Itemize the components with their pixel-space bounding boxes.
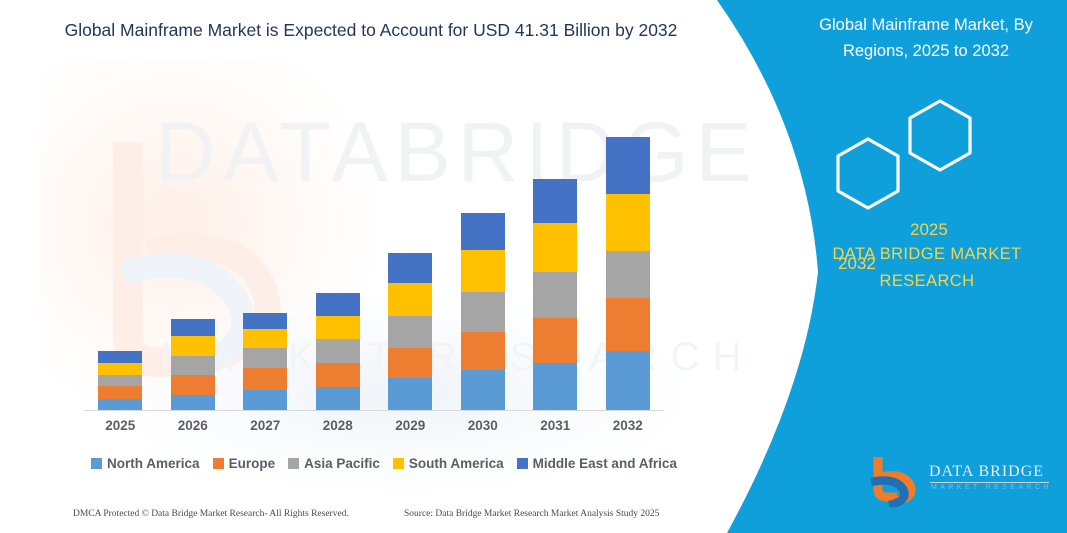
x-axis-label: 2029 <box>379 418 441 433</box>
bar-segment <box>98 386 142 399</box>
bar-segment <box>388 283 432 316</box>
logo-divider <box>930 482 1049 483</box>
logo-subtitle: MARKET RESEARCH <box>931 484 1052 491</box>
x-axis-label: 2030 <box>452 418 514 433</box>
x-axis-label: 2031 <box>524 418 586 433</box>
bar-segment <box>606 137 650 194</box>
bar-segment <box>171 319 215 336</box>
hexagon-2025-shape <box>910 101 970 170</box>
bar-segment <box>533 179 577 223</box>
legend-swatch-icon <box>393 458 404 469</box>
bar-segment <box>98 375 142 386</box>
legend-item-middle-east-and-africa[interactable]: Middle East and Africa <box>517 456 677 471</box>
legend-swatch-icon <box>517 458 528 469</box>
legend-item-north-america[interactable]: North America <box>91 456 200 471</box>
legend-label: Middle East and Africa <box>533 456 677 471</box>
bar-segment <box>533 223 577 272</box>
bar-segment <box>606 351 650 411</box>
x-axis-label: 2025 <box>89 418 151 433</box>
bar-segment <box>388 316 432 348</box>
legend-swatch-icon <box>91 458 102 469</box>
bar-segment <box>243 348 287 368</box>
legend-label: Europe <box>229 456 276 471</box>
right-panel-content: Global Mainframe Market, By Regions, 202… <box>687 0 1067 533</box>
bar-segment <box>243 329 287 348</box>
bar-segment <box>461 213 505 250</box>
x-axis-label: 2032 <box>597 418 659 433</box>
bar-segment <box>606 298 650 351</box>
data-bridge-logo-icon <box>867 455 927 507</box>
hexagon-outlines-icon <box>812 92 1052 210</box>
bar-segment <box>461 250 505 292</box>
hexagon-2032-shape <box>838 139 898 208</box>
bar-segment <box>533 363 577 411</box>
bar-segment <box>388 348 432 378</box>
bar-segment <box>461 292 505 332</box>
bar-segment <box>171 395 215 411</box>
bar-stack <box>243 313 287 411</box>
bar-stack <box>533 179 577 411</box>
footer-source: Source: Data Bridge Market Research Mark… <box>404 509 659 519</box>
bar-segment <box>243 313 287 329</box>
bar-segment <box>98 363 142 375</box>
legend-swatch-icon <box>288 458 299 469</box>
footer-copyright: DMCA Protected © Data Bridge Market Rese… <box>73 509 349 519</box>
bar-stack <box>388 253 432 411</box>
bar-segment <box>171 356 215 375</box>
bar-segment <box>388 378 432 411</box>
bar-segment <box>243 390 287 411</box>
chart-x-axis-line <box>84 410 664 411</box>
bar-segment <box>461 332 505 370</box>
x-axis-label: 2027 <box>234 418 296 433</box>
bar-segment <box>388 253 432 283</box>
bar-segment <box>98 351 142 363</box>
logo-title: DATA BRIDGE <box>929 463 1044 481</box>
legend-label: South America <box>409 456 504 471</box>
bar-segment <box>171 336 215 356</box>
bar-segment <box>316 387 360 411</box>
legend-label: North America <box>107 456 200 471</box>
bar-segment <box>243 368 287 390</box>
bar-stack <box>461 213 505 411</box>
infographic-canvas: DATABRIDGE MARKET RESEARCH Global Mainfr… <box>0 0 1067 533</box>
bar-stack <box>171 319 215 411</box>
bar-segment <box>316 339 360 363</box>
hexagon-badges: 2032 2025 <box>812 92 1052 210</box>
x-axis-label: 2026 <box>162 418 224 433</box>
chart-title: Global Mainframe Market is Expected to A… <box>56 16 686 45</box>
chart-x-axis-labels: 20252026202720282029203020312032 <box>84 418 664 440</box>
legend-item-asia-pacific[interactable]: Asia Pacific <box>288 456 380 471</box>
bar-segment <box>316 293 360 316</box>
hexagon-2025-label: 2025 <box>910 220 948 240</box>
bar-segment <box>171 375 215 395</box>
panel-title: Global Mainframe Market, By Regions, 202… <box>797 12 1055 64</box>
legend-item-south-america[interactable]: South America <box>393 456 504 471</box>
bar-segment <box>533 318 577 363</box>
bar-segment <box>461 370 505 411</box>
bar-stack <box>316 293 360 411</box>
bar-segment <box>606 251 650 298</box>
chart-legend: North AmericaEuropeAsia PacificSouth Ame… <box>84 456 684 471</box>
bar-segment <box>606 194 650 251</box>
legend-label: Asia Pacific <box>304 456 380 471</box>
brand-logo: DATA BRIDGE MARKET RESEARCH <box>867 455 1057 513</box>
bar-segment <box>316 363 360 387</box>
panel-brand-text: DATA BRIDGE MARKET RESEARCH <box>797 241 1057 295</box>
bar-stack <box>98 351 142 411</box>
bar-segment <box>316 316 360 339</box>
bar-segment <box>533 272 577 318</box>
legend-swatch-icon <box>213 458 224 469</box>
bar-stack <box>606 137 650 411</box>
chart-plot-area <box>84 120 664 411</box>
legend-item-europe[interactable]: Europe <box>213 456 276 471</box>
x-axis-label: 2028 <box>307 418 369 433</box>
